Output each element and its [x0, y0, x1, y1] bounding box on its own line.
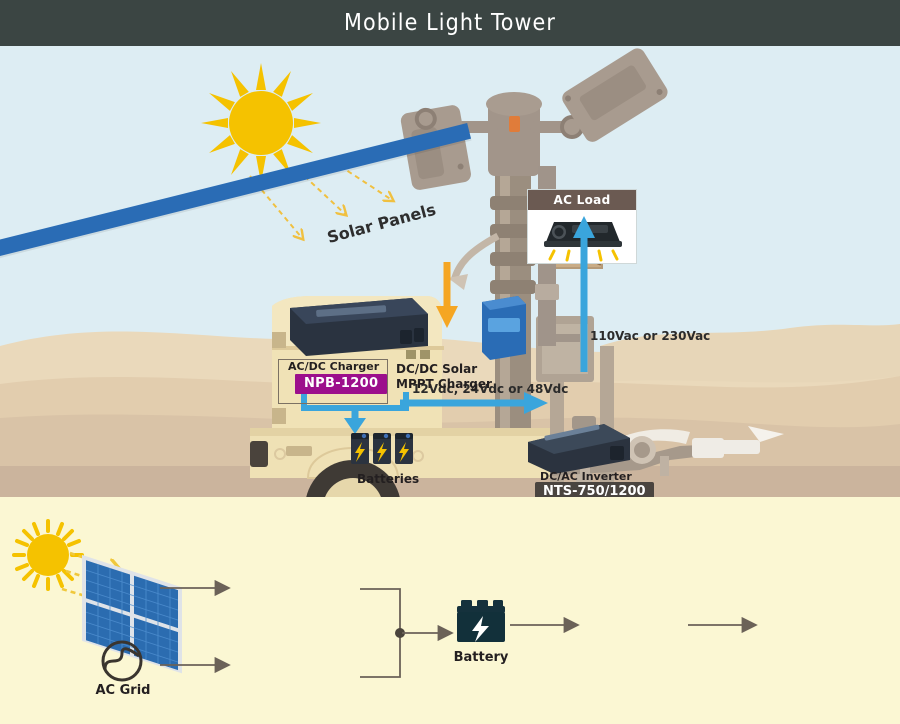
battery-icon	[455, 600, 507, 648]
npb-1200-badge: NPB-1200	[295, 374, 387, 394]
ac-dc-charger-unit	[290, 298, 428, 356]
diagram-connector-lines	[155, 577, 395, 707]
battery-label: Battery	[446, 650, 516, 665]
ac-grid-icon	[97, 636, 147, 686]
diagram-junction-connector	[360, 582, 470, 682]
batteries-label: Batteries	[357, 472, 419, 486]
ac-voltage-label: 110Vac or 230Vac	[590, 329, 710, 343]
dc-dc-mppt-charger-unit	[482, 296, 526, 360]
mobile-light-tower-infographic: Mobile Light Tower	[0, 0, 900, 724]
solar-to-charger-arrow-icon	[432, 262, 462, 332]
ac-dc-charger-label: AC/DC Charger	[288, 360, 379, 373]
page-title-bar: Mobile Light Tower	[0, 0, 900, 46]
dc-dc-charger-line1: DC/DC Solar	[396, 362, 492, 377]
ac-load-title: AC Load	[528, 190, 636, 210]
battery-to-inverter-connector	[510, 615, 590, 635]
ac-grid-label: AC Grid	[88, 683, 158, 698]
batteries-icon	[350, 430, 416, 474]
dc-dc-charger-line2: MPPT Charger	[396, 377, 492, 392]
illustration-scene: Solar Panels AC Load	[0, 46, 900, 497]
page-title: Mobile Light Tower	[344, 10, 556, 36]
dc-ac-inverter-unit	[522, 418, 637, 476]
inverter-to-load-connector	[688, 615, 766, 635]
inverter-to-acload-arrow-icon	[572, 212, 596, 372]
system-block-diagram: AC Grid DC/DC Solar MPPT Charger AC/DC C…	[0, 497, 900, 724]
dc-dc-charger-label: DC/DC Solar MPPT Charger	[396, 362, 492, 392]
nts-badge: NTS-750/1200	[535, 482, 654, 497]
